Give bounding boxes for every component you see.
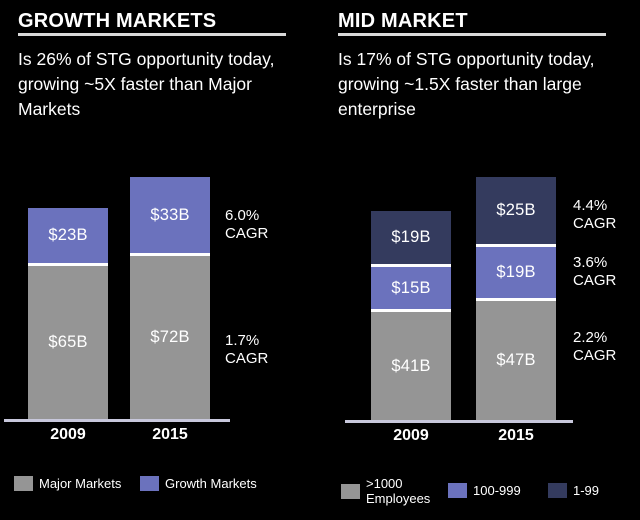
panel-mid-market: MID MARKET Is 17% of STG opportunity tod…	[320, 0, 640, 520]
cagr-annotation-1-99: 4.4% CAGR	[573, 197, 616, 233]
panel-growth-markets: GROWTH MARKETS Is 26% of STG opportunity…	[0, 0, 320, 520]
cagr-unit: CAGR	[573, 347, 616, 364]
cagr-unit: CAGR	[573, 272, 616, 289]
legend-swatch-gray-icon	[14, 476, 33, 491]
legend-swatch-gray-icon	[341, 484, 360, 499]
bar-2015-left: $33B $72B	[130, 177, 210, 419]
axis-category-2009-right: 2009	[371, 427, 451, 445]
chart-growth-markets: $23B $65B $33B $72B 2009 2015	[0, 0, 320, 520]
bar-segment-label: $25B	[496, 201, 535, 220]
bar-segment-100-999-2009: $15B	[371, 267, 451, 309]
cagr-unit: CAGR	[225, 225, 268, 242]
bar-segment-label: $19B	[391, 228, 430, 247]
legend-label: >1000 Employees	[366, 476, 430, 506]
bar-segment-label: $41B	[391, 357, 430, 376]
bar-segment-over-1000-2015: $47B	[476, 301, 556, 420]
chart-baseline-left	[4, 419, 230, 422]
axis-category-2009-left: 2009	[28, 426, 108, 444]
bar-segment-1-99-2009: $19B	[371, 211, 451, 264]
cagr-unit: CAGR	[573, 215, 616, 232]
legend-swatch-periwinkle-icon	[448, 483, 467, 498]
cagr-value: 6.0%	[225, 207, 259, 224]
bar-segment-100-999-2015: $19B	[476, 247, 556, 298]
bar-segment-label: $65B	[48, 333, 87, 352]
chart-mid-market: $19B $15B $41B $25B $19B	[320, 0, 640, 520]
chart-baseline-right	[345, 420, 573, 423]
bar-segment-major-markets-2009: $65B	[28, 266, 108, 419]
bar-segment-label: $15B	[391, 279, 430, 298]
bar-segment-growth-markets-2009: $23B	[28, 208, 108, 263]
bar-segment-over-1000-2009: $41B	[371, 312, 451, 420]
cagr-annotation-100-999: 3.6% CAGR	[573, 254, 616, 290]
cagr-value: 2.2%	[573, 329, 607, 346]
cagr-value: 1.7%	[225, 332, 259, 349]
bar-segment-major-markets-2015: $72B	[130, 256, 210, 419]
cagr-annotation-growth-markets: 6.0% CAGR	[225, 207, 268, 243]
cagr-annotation-major-markets: 1.7% CAGR	[225, 332, 268, 368]
legend-item-growth-markets[interactable]: Growth Markets	[140, 476, 257, 491]
bar-segment-1-99-2015: $25B	[476, 177, 556, 244]
cagr-annotation-over-1000: 2.2% CAGR	[573, 329, 616, 365]
legend-item-1-99[interactable]: 1-99	[548, 483, 599, 498]
legend-label: Growth Markets	[165, 476, 257, 491]
bar-segment-label: $72B	[150, 328, 189, 347]
bar-2009-left: $23B $65B	[28, 208, 108, 419]
cagr-value: 4.4%	[573, 197, 607, 214]
legend-item-over-1000-employees[interactable]: >1000 Employees	[341, 476, 430, 506]
legend-label: 1-99	[573, 483, 599, 498]
cagr-unit: CAGR	[225, 350, 268, 367]
bar-segment-growth-markets-2015: $33B	[130, 177, 210, 253]
slide-root: GROWTH MARKETS Is 26% of STG opportunity…	[0, 0, 640, 520]
legend-label: Major Markets	[39, 476, 121, 491]
legend-item-major-markets[interactable]: Major Markets	[14, 476, 121, 491]
bar-2015-right: $25B $19B $47B	[476, 177, 556, 420]
bar-segment-label: $47B	[496, 351, 535, 370]
legend-right: >1000 Employees 100-999 1-99	[320, 470, 640, 510]
legend-left: Major Markets Growth Markets	[0, 472, 320, 502]
bar-segment-label: $33B	[150, 206, 189, 225]
legend-label: 100-999	[473, 483, 521, 498]
axis-category-2015-right: 2015	[476, 427, 556, 445]
legend-swatch-periwinkle-icon	[140, 476, 159, 491]
bar-2009-right: $19B $15B $41B	[371, 211, 451, 420]
bar-segment-label: $23B	[48, 226, 87, 245]
axis-category-2015-left: 2015	[130, 426, 210, 444]
legend-swatch-navy-icon	[548, 483, 567, 498]
cagr-value: 3.6%	[573, 254, 607, 271]
bar-segment-label: $19B	[496, 263, 535, 282]
legend-item-100-999[interactable]: 100-999	[448, 483, 521, 498]
